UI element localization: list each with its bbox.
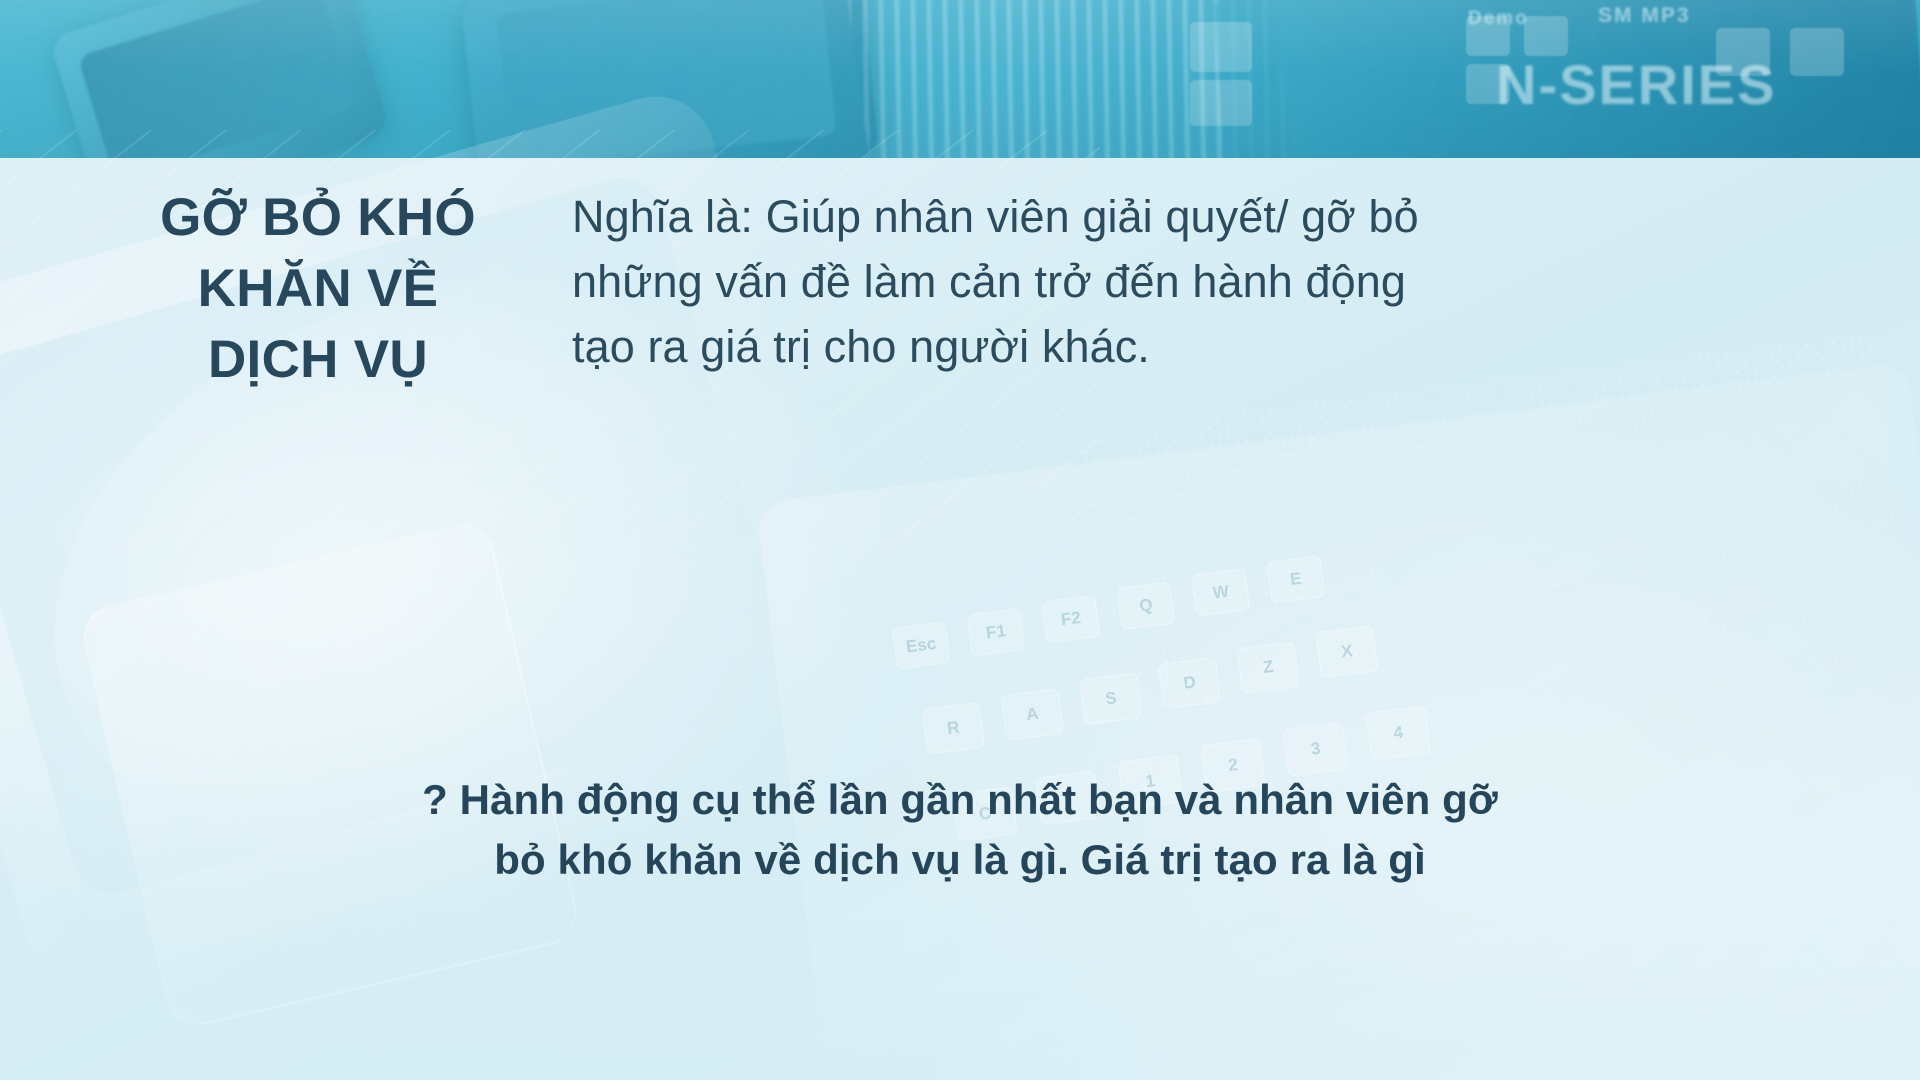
- title-line-2: KHĂN VỀ: [118, 253, 518, 324]
- question-line-1: ? Hành động cụ thể lần gần nhất bạn và n…: [0, 770, 1920, 830]
- slide-root: N-SERIES Demo SM MP3 Esc F1 F2 Q W E R A…: [0, 0, 1920, 1080]
- slide-content: GỠ BỎ KHÓ KHĂN VỀ DỊCH VỤ Nghĩa là: Giúp…: [0, 0, 1920, 1080]
- question-line-2: bỏ khó khăn về dịch vụ là gì. Giá trị tạ…: [0, 830, 1920, 890]
- question-prompt: ? Hành động cụ thể lần gần nhất bạn và n…: [0, 770, 1920, 891]
- title-line-3: DỊCH VỤ: [118, 324, 518, 395]
- title-line-1: GỠ BỎ KHÓ: [118, 182, 518, 253]
- page-title: GỠ BỎ KHÓ KHĂN VỀ DỊCH VỤ: [118, 182, 518, 395]
- lead-line-3: tạo ra giá trị cho người khác.: [572, 315, 1502, 380]
- lead-line-1: Nghĩa là: Giúp nhân viên giải quyết/ gỡ …: [572, 185, 1502, 250]
- lead-paragraph: Nghĩa là: Giúp nhân viên giải quyết/ gỡ …: [572, 185, 1502, 379]
- lead-line-2: những vấn đề làm cản trở đến hành động: [572, 250, 1502, 315]
